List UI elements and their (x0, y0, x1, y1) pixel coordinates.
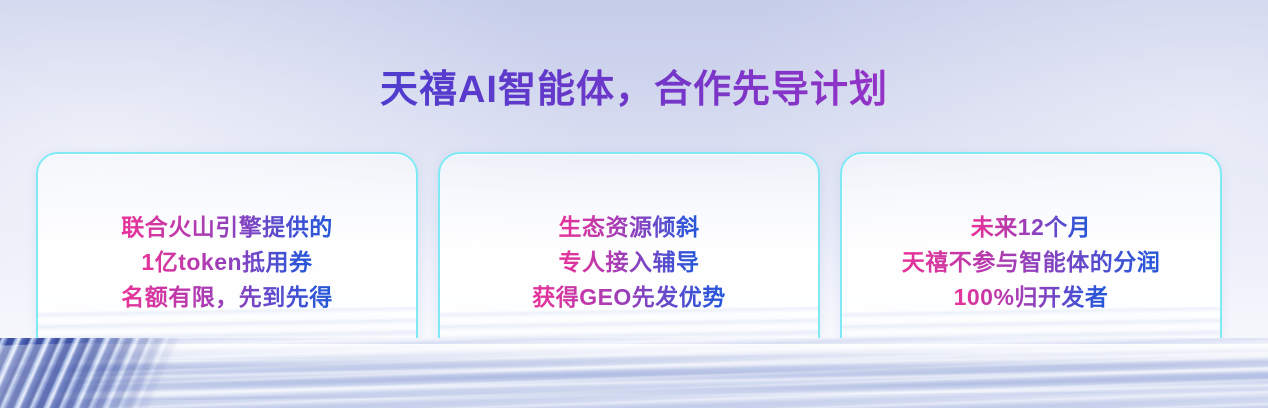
card-line: 名额有限，先到先得 (121, 280, 333, 315)
benefit-card-ecosystem-support[interactable]: 生态资源倾斜 专人接入辅导 获得GEO先发优势 (438, 152, 820, 373)
benefit-card-token-voucher[interactable]: 联合火山引擎提供的 1亿token抵用券 名额有限，先到先得 (36, 152, 418, 373)
card-line: 专人接入辅导 (559, 245, 700, 280)
card-line: 100%归开发者 (954, 280, 1109, 315)
page-title: 天禧AI智能体，合作先导计划 (0, 65, 1268, 115)
card-content: 联合火山引擎提供的 1亿token抵用券 名额有限，先到先得 (38, 154, 416, 371)
benefit-card-list: 联合火山引擎提供的 1亿token抵用券 名额有限，先到先得 生态资源倾斜 专人… (36, 152, 1222, 373)
benefit-card-revenue-share[interactable]: 未来12个月 天禧不参与智能体的分润 100%归开发者 (840, 152, 1222, 373)
card-line: 天禧不参与智能体的分润 (902, 245, 1161, 280)
card-line: 生态资源倾斜 (559, 210, 700, 245)
card-content: 生态资源倾斜 专人接入辅导 获得GEO先发优势 (440, 154, 818, 371)
card-line: 1亿token抵用券 (141, 245, 312, 280)
card-line: 获得GEO先发优势 (532, 280, 726, 315)
card-line: 联合火山引擎提供的 (121, 210, 333, 245)
card-line: 未来12个月 (971, 210, 1092, 245)
card-content: 未来12个月 天禧不参与智能体的分润 100%归开发者 (842, 154, 1220, 371)
presentation-slide: 天禧AI智能体，合作先导计划 联合火山引擎提供的 1亿token抵用券 名额有限… (0, 0, 1268, 408)
